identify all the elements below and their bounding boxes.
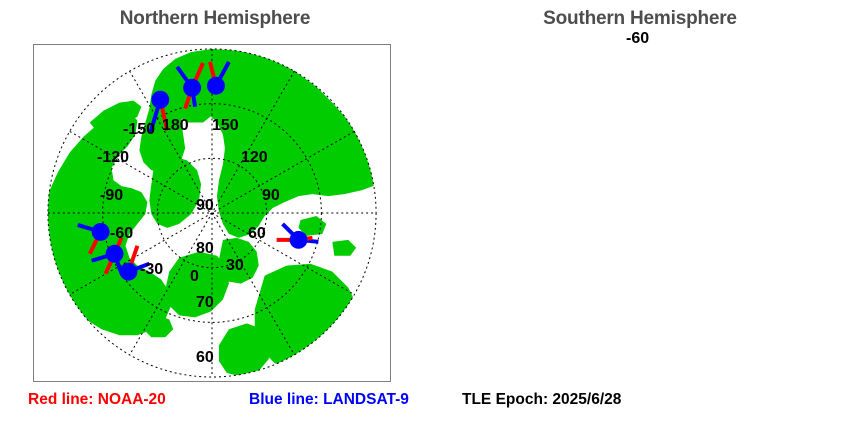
north-lon-label-120: 120 [241,149,268,167]
legend-tle-epoch: TLE Epoch: 2025/6/28 [462,391,621,409]
north-lon-label-m150: -150 [123,121,155,139]
south-lat-label-m60-top: -60 [626,30,649,48]
northern-hemisphere-plot: 180 150 -150 120 -120 90 -90 60 -60 30 -… [33,44,391,382]
north-lon-label-m60: -60 [110,225,133,243]
north-lon-label-m30: -30 [140,261,163,279]
north-lon-label-m120: -120 [97,149,129,167]
legend: Red line: NOAA-20 Blue line: LANDSAT-9 T… [0,391,850,417]
figure-root: Northern Hemisphere [0,0,850,425]
legend-blue-line: Blue line: LANDSAT-9 [249,391,409,409]
north-lat-label-90: 90 [196,197,214,215]
north-lon-label-90: 90 [262,187,280,205]
north-lon-label-180: 180 [162,117,189,135]
north-lat-label-80: 80 [196,240,214,258]
north-lon-label-60: 60 [248,225,266,243]
northern-hemisphere-panel: Northern Hemisphere [0,0,430,425]
north-lon-label-m90: -90 [100,187,123,205]
north-lon-label-30: 30 [226,257,244,275]
north-lat-label-60: 60 [196,349,214,367]
north-lon-label-0: 0 [190,268,199,286]
southern-hemisphere-panel: Southern Hemisphere -60 [430,0,850,425]
north-lat-label-70: 70 [196,294,214,312]
northern-hemisphere-title: Northern Hemisphere [0,8,430,30]
southern-hemisphere-title: Southern Hemisphere [430,8,850,30]
legend-red-line: Red line: NOAA-20 [28,391,166,409]
north-lon-label-150: 150 [212,117,239,135]
